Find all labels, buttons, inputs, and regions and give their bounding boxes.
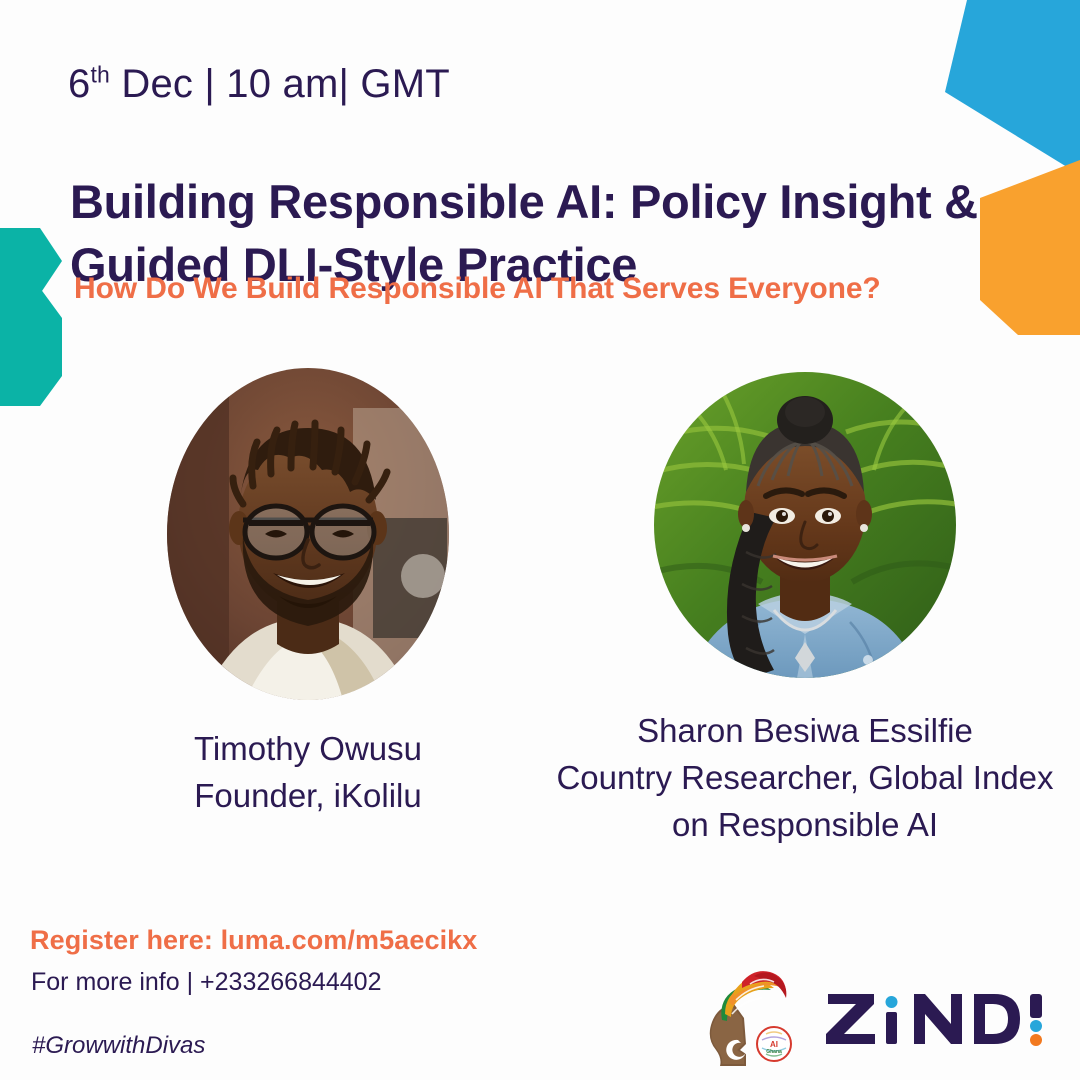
- registration-link[interactable]: Register here: luma.com/m5aecikx: [30, 925, 477, 956]
- date-remainder: Dec | 10 am| GMT: [110, 62, 450, 106]
- date-ordinal-suffix: th: [90, 62, 110, 88]
- speaker-2-role-line-2: on Responsible AI: [540, 802, 1070, 849]
- ai-divas-ghana-logo: AI Ghana: [692, 962, 800, 1070]
- date-day: 6: [68, 62, 90, 106]
- cyan-chevron-decoration: [945, 0, 1080, 175]
- speaker-2-name: Sharon Besiwa Essilfie: [540, 708, 1070, 755]
- zindi-logo: [822, 978, 1054, 1054]
- event-poster: 6th Dec | 10 am| GMT Building Responsibl…: [0, 0, 1080, 1080]
- teal-chevron-decoration-small: [0, 228, 62, 294]
- speaker-1-role: Founder, iKolilu: [88, 773, 528, 820]
- speaker-2-avatar: [654, 372, 956, 678]
- speaker-card-2: Sharon Besiwa Essilfie Country Researche…: [540, 372, 1070, 849]
- speaker-1-details: Timothy Owusu Founder, iKolilu: [88, 726, 528, 820]
- event-date-time: 6th Dec | 10 am| GMT: [68, 62, 450, 107]
- svg-text:Ghana: Ghana: [766, 1049, 782, 1055]
- contact-info: For more info | +233266844402: [31, 968, 382, 997]
- speaker-card-1: Timothy Owusu Founder, iKolilu: [88, 368, 528, 820]
- speaker-1-name: Timothy Owusu: [88, 726, 528, 773]
- teal-chevron-decoration-large: [0, 288, 62, 406]
- speaker-2-role-line-1: Country Researcher, Global Index: [540, 755, 1070, 802]
- ai-ghana-badge-text: AI: [770, 1040, 778, 1049]
- event-subtitle: How Do We Build Responsible AI That Serv…: [74, 272, 974, 306]
- speaker-2-details: Sharon Besiwa Essilfie Country Researche…: [540, 708, 1070, 849]
- logo-row: AI Ghana: [692, 962, 1054, 1070]
- campaign-hashtag: #GrowwithDivas: [32, 1032, 205, 1060]
- speaker-1-avatar: [167, 368, 449, 700]
